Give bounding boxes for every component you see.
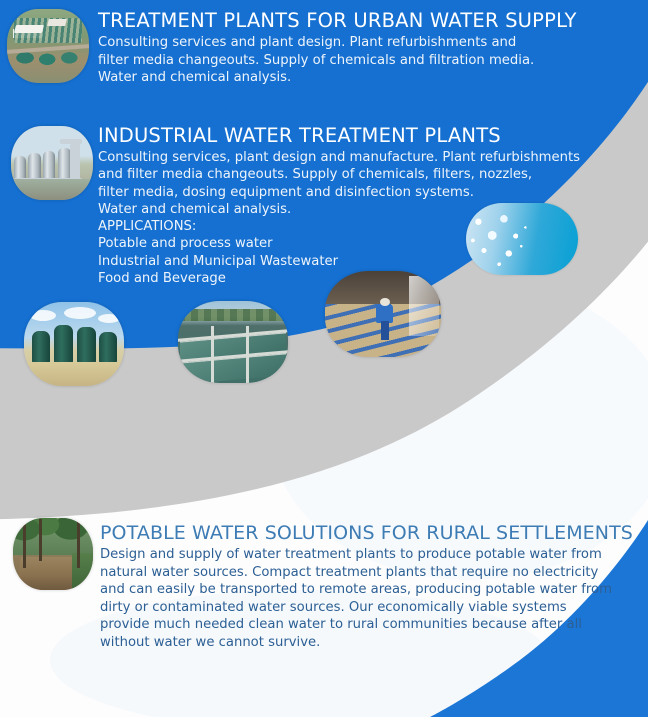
section-urban-title: TREATMENT PLANTS FOR URBAN WATER SUPPLY bbox=[98, 9, 638, 33]
slide-canvas: TREATMENT PLANTS FOR URBAN WATER SUPPLY … bbox=[0, 0, 648, 717]
body-line: Design and supply of water treatment pla… bbox=[100, 546, 645, 564]
worker-in-basin-photo bbox=[325, 271, 441, 357]
section-industrial-title: INDUSTRIAL WATER TREATMENT PLANTS bbox=[98, 124, 638, 148]
body-line: Consulting services and plant design. Pl… bbox=[98, 34, 638, 52]
section-rural-title: POTABLE WATER SOLUTIONS FOR RURAL SETTLE… bbox=[100, 521, 645, 545]
body-line: Consulting services, plant design and ma… bbox=[98, 149, 638, 166]
body-line: and can easily be transported to remote … bbox=[100, 581, 645, 599]
body-line: Water and chemical analysis. bbox=[98, 69, 638, 87]
body-line: natural water sources. Compact treatment… bbox=[100, 564, 645, 582]
body-line: filter media, dosing equipment and disin… bbox=[98, 184, 638, 201]
green-filter-tanks-photo bbox=[24, 302, 124, 386]
sedimentation-basins-photo bbox=[178, 301, 288, 383]
body-line: provide much needed clean water to rural… bbox=[100, 616, 645, 634]
water-splash-graphic bbox=[466, 203, 578, 275]
body-line: dirty or contaminated water sources. Our… bbox=[100, 599, 645, 617]
industrial-vessels-photo bbox=[11, 126, 93, 200]
body-line: filter media changeouts. Supply of chemi… bbox=[98, 52, 638, 70]
body-line: without water we cannot survive. bbox=[100, 634, 645, 652]
section-rural: POTABLE WATER SOLUTIONS FOR RURAL SETTLE… bbox=[100, 521, 645, 651]
section-urban: TREATMENT PLANTS FOR URBAN WATER SUPPLY … bbox=[98, 9, 638, 87]
section-rural-body: Design and supply of water treatment pla… bbox=[100, 546, 645, 651]
section-urban-body: Consulting services and plant design. Pl… bbox=[98, 34, 638, 87]
rural-river-photo bbox=[13, 518, 93, 590]
aerial-treatment-plant-photo bbox=[7, 9, 89, 83]
body-line: and filter media changeouts. Supply of c… bbox=[98, 166, 638, 183]
